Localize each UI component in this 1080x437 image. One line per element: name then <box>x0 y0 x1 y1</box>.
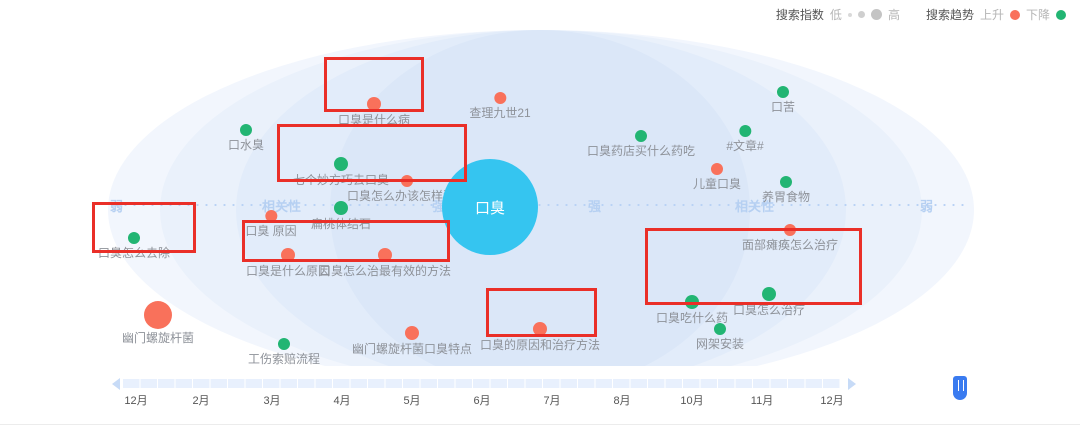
keyword-node-label: 口臭怎么治疗 <box>733 303 805 317</box>
trend-down-dot-icon <box>1056 10 1066 20</box>
keyword-node[interactable]: 口臭药店买什么药吃 <box>587 130 695 158</box>
keyword-node-label: 查理九世21 <box>469 106 530 120</box>
keyword-node-label: 工伤索赔流程 <box>248 352 320 366</box>
demand-graph-page: 搜索指数 低 高 搜索趋势 上升 下降 弱 相关性 强 强 相关性 弱 口水臭口… <box>0 0 1080 437</box>
trend-down-bubble-icon <box>635 130 647 142</box>
timeline-tick-label[interactable]: 11月 <box>751 392 773 408</box>
timeline[interactable]: 12月2月3月4月5月6月7月8月10月11月12月 <box>0 368 1080 413</box>
keyword-node[interactable]: 口水臭 <box>228 124 264 152</box>
legend-index-high: 高 <box>888 6 900 23</box>
timeline-prev-arrow-icon[interactable] <box>112 378 120 390</box>
annotation-box <box>277 124 467 182</box>
axis-label-strong-right: 强 <box>588 196 601 215</box>
legend-search-trend: 搜索趋势 上升 下降 <box>926 6 1066 23</box>
timeline-tick-label[interactable]: 7月 <box>543 392 560 408</box>
timeline-tick-label[interactable]: 2月 <box>192 392 209 408</box>
keyword-node[interactable]: 幽门螺旋杆菌 <box>122 301 194 345</box>
keyword-node-label: 口臭的原因和治疗方法 <box>480 338 600 352</box>
trend-down-bubble-icon <box>777 86 789 98</box>
annotation-box <box>486 288 597 337</box>
keyword-node-label: 儿童口臭 <box>693 177 741 191</box>
annotation-box <box>242 220 450 262</box>
index-dot-large-icon <box>871 9 882 20</box>
keyword-node[interactable]: 儿童口臭 <box>693 163 741 191</box>
keyword-node[interactable]: 口苦 <box>771 86 795 114</box>
keyword-node-label: 网架安装 <box>696 337 744 351</box>
graph-canvas[interactable]: 弱 相关性 强 强 相关性 弱 口水臭口臭是什么病查理九世21口苦口臭药店买什么… <box>0 26 1080 366</box>
axis-label-weak-right: 弱 <box>920 196 933 215</box>
keyword-node-label: 口水臭 <box>228 138 264 152</box>
annotation-box <box>92 202 196 253</box>
keyword-node[interactable]: 幽门螺旋杆菌口臭特点 <box>352 326 472 356</box>
timeline-handle[interactable] <box>953 376 967 400</box>
legend-index-title: 搜索指数 <box>776 6 824 23</box>
trend-up-bubble-icon <box>405 326 419 340</box>
keyword-node-label: 口臭药店买什么药吃 <box>587 144 695 158</box>
keyword-node-label: 养胃食物 <box>762 190 810 204</box>
legend-trend-down-label: 下降 <box>1026 6 1050 23</box>
timeline-tick-label[interactable]: 10月 <box>680 392 703 408</box>
trend-down-bubble-icon <box>780 176 792 188</box>
keyword-node[interactable]: 查理九世21 <box>469 92 530 120</box>
keyword-node-label: #文章# <box>726 139 763 153</box>
trend-down-bubble-icon <box>240 124 252 136</box>
trend-down-bubble-icon <box>714 323 726 335</box>
trend-up-bubble-icon <box>494 92 506 104</box>
relevance-axis <box>112 204 970 206</box>
timeline-next-arrow-icon[interactable] <box>848 378 856 390</box>
keyword-node[interactable]: #文章# <box>726 125 763 153</box>
annotation-box <box>645 228 862 305</box>
timeline-tick-label[interactable]: 4月 <box>333 392 350 408</box>
timeline-tick-label[interactable]: 12月 <box>820 392 843 408</box>
index-dot-medium-icon <box>858 11 865 18</box>
index-dot-small-icon <box>848 13 852 17</box>
keyword-node-label: 口臭是什么原因 <box>246 264 330 278</box>
trend-down-bubble-icon <box>334 201 348 215</box>
legend-trend-title: 搜索趋势 <box>926 6 974 23</box>
keyword-node-label: 口苦 <box>771 100 795 114</box>
trend-down-bubble-icon <box>278 338 290 350</box>
annotation-box <box>324 57 424 112</box>
timeline-tick-label[interactable]: 3月 <box>263 392 280 408</box>
trend-down-bubble-icon <box>739 125 751 137</box>
timeline-tick-label[interactable]: 6月 <box>473 392 490 408</box>
timeline-track[interactable] <box>122 379 840 388</box>
timeline-tick-label[interactable]: 12月 <box>124 392 147 408</box>
keyword-node[interactable]: 养胃食物 <box>762 176 810 204</box>
keyword-node-label: 幽门螺旋杆菌 <box>122 331 194 345</box>
legend-trend-up-label: 上升 <box>980 6 1004 23</box>
trend-up-bubble-icon <box>144 301 172 329</box>
keyword-node-label: 口臭怎么治最有效的方法 <box>319 264 451 278</box>
keyword-node[interactable]: 网架安装 <box>696 323 744 351</box>
timeline-tick-label[interactable]: 5月 <box>403 392 420 408</box>
trend-up-dot-icon <box>1010 10 1020 20</box>
keyword-node[interactable]: 工伤索赔流程 <box>248 338 320 366</box>
center-bubble-label: 口臭 <box>475 197 505 218</box>
legend-search-index: 搜索指数 低 高 <box>776 6 900 23</box>
bottom-divider <box>0 424 1080 425</box>
legend: 搜索指数 低 高 搜索趋势 上升 下降 <box>776 6 1066 23</box>
legend-index-low: 低 <box>830 6 842 23</box>
timeline-tick-label[interactable]: 8月 <box>613 392 630 408</box>
keyword-node-label: 幽门螺旋杆菌口臭特点 <box>352 342 472 356</box>
trend-up-bubble-icon <box>711 163 723 175</box>
